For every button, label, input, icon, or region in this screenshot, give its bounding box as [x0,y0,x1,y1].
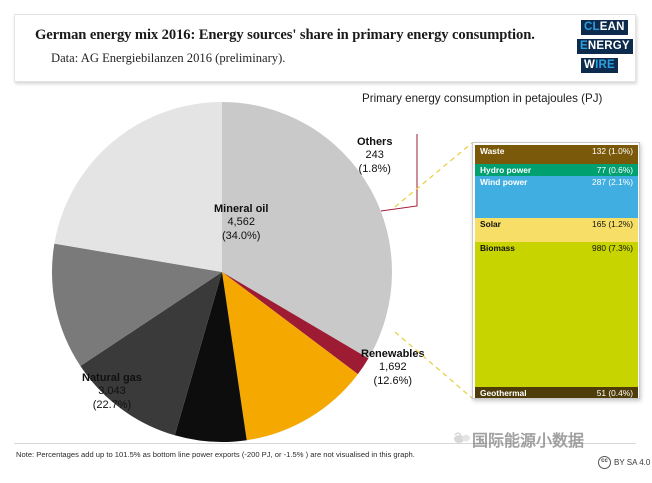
slice-percent: (22.7%) [82,399,142,412]
bar-chart-title: Primary energy consumption in petajoules… [362,92,602,105]
slice-percent: (34.0%) [214,230,268,243]
watermark-logo-icon [452,430,472,446]
data-source-line: Data: AG Energiebilanzen 2016 (prelimina… [51,51,285,66]
renewables-breakdown-panel: Waste132 (1.0%)Hydro power77 (0.6%)Wind … [472,142,640,399]
bar-segment-name: Geothermal [480,388,527,398]
bar-segment-value: 287 (2.1%) [592,177,633,187]
clean-energy-wire-logo: CLEAN ENERGY WIRE [577,20,631,76]
logo-clean-prefix: CL [584,21,600,33]
watermark-text: 国际能源小数据 [472,427,584,451]
bar-segment-name: Biomass [480,243,515,253]
bar-segment-name: Hydro power [480,165,531,175]
slice-value: 1,692 [361,361,425,374]
pie-label-lignite: Lignite 1,525 (11.4%) [276,475,314,483]
chart-footnote: Note: Percentages add up to 101.5% as bo… [16,450,415,459]
header-card: German energy mix 2016: Energy sources' … [14,14,636,82]
infographic-page: German energy mix 2016: Energy sources' … [0,0,652,483]
slice-name: Others [357,136,392,149]
slice-name: Natural gas [82,372,142,385]
bar-segment-value: 980 (7.3%) [592,243,633,253]
bar-segment-value: 165 (1.2%) [592,219,633,229]
logo-wire-prefix: W [584,59,595,71]
slice-name: Nuclear power [333,427,409,440]
pie-label-nuclear-power: Nuclear power 927 (6.9%) [333,427,409,467]
bar-segment-name: Wind power [480,177,527,187]
bar-segment-waste: Waste132 (1.0%) [475,145,638,164]
bar-segment-name: Waste [480,146,504,156]
slice-value: 4,562 [214,216,268,229]
license-text: BY SA 4.0 [614,458,650,467]
pie-label-mineral-oil: Mineral oil 4,562 (34.0%) [214,203,268,243]
pie-slice-natural-gas [54,102,222,272]
page-title: German energy mix 2016: Energy sources' … [35,27,535,44]
bar-segment-hydro-power: Hydro power77 (0.6%) [475,164,638,175]
slice-name: Mineral oil [214,203,268,216]
renewables-stacked-bar: Waste132 (1.0%)Hydro power77 (0.6%)Wind … [475,145,638,398]
slice-value: 3,043 [82,385,142,398]
logo-line-energy: ENERGY [577,39,633,54]
pie-label-natural-gas: Natural gas 3,043 (22.7%) [82,372,142,412]
pie-label-hard-coal: Hard coal 1,635 (12.2%) [139,478,189,483]
logo-energy-suffix: NERGY [588,40,630,52]
pie-label-renewables: Renewables 1,692 (12.6%) [361,348,425,388]
logo-wire-suffix: IRE [595,59,615,71]
bar-segment-geothermal: Geothermal51 (0.4%) [475,387,638,398]
slice-percent: (1.8%) [359,163,391,175]
bar-segment-value: 77 (0.6%) [597,165,633,175]
bar-segment-wind-power: Wind power287 (2.1%) [475,176,638,218]
creative-commons-badge: cc BY SA 4.0 [598,456,650,469]
bar-segment-solar: Solar165 (1.2%) [475,218,638,242]
pie-label-others: Others 243 (1.8%) [357,136,392,176]
bar-segment-name: Solar [480,219,501,229]
bar-segment-value: 132 (1.0%) [592,146,633,156]
slice-percent: (12.6%) [361,375,425,388]
slice-name: Hard coal [139,478,189,483]
logo-line-wire: WIRE [581,58,618,73]
logo-energy-prefix: E [580,40,588,52]
slice-name: Lignite [276,475,314,483]
bar-segment-value: 51 (0.4%) [597,388,633,398]
renewables-leader-top [395,143,472,207]
cc-icon: cc [598,456,611,469]
slice-value: 243 [366,149,384,161]
bar-segment-biomass: Biomass980 (7.3%) [475,242,638,387]
slice-name: Renewables [361,348,425,361]
energy-mix-pie-chart: Mineral oil 4,562 (34.0%) Natural gas 3,… [44,95,400,451]
logo-line-clean: CLEAN [581,20,628,35]
logo-clean-suffix: EAN [600,21,625,33]
